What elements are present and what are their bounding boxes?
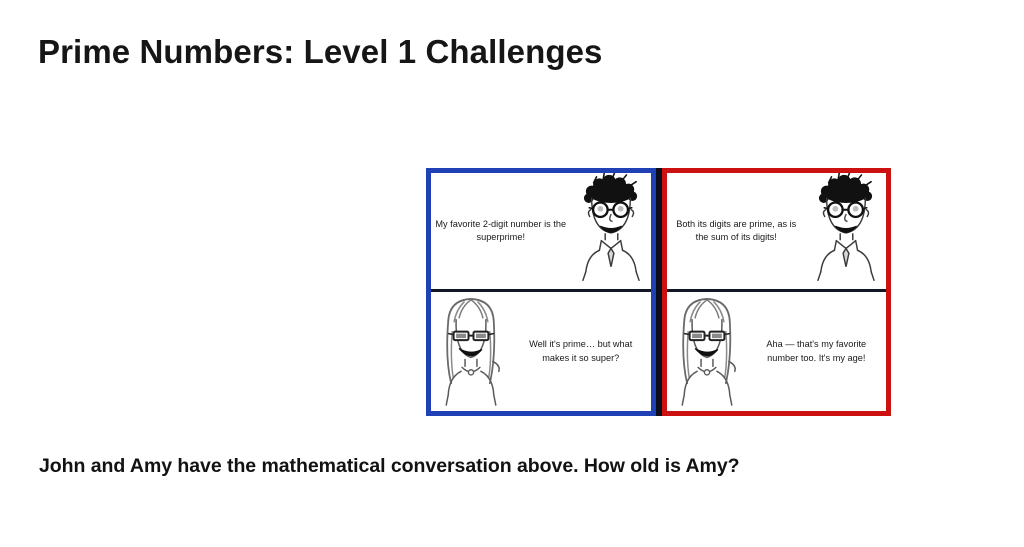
john-figure-icon — [571, 173, 651, 289]
speech-text-4: Aha — that's my favorite number too. It'… — [747, 338, 887, 364]
comic-strip: My favorite 2-digit number is the superp… — [426, 168, 891, 416]
comic-panel-1: My favorite 2-digit number is the superp… — [431, 173, 651, 292]
speech-text-3: Well it's prime… but what makes it so su… — [511, 338, 651, 364]
comic-half-right: Both its digits are prime, as is the sum… — [662, 168, 892, 416]
speech-text-1: My favorite 2-digit number is the superp… — [431, 218, 571, 244]
question-caption: John and Amy have the mathematical conve… — [39, 455, 739, 478]
page-title: Prime Numbers: Level 1 Challenges — [38, 33, 603, 71]
comic-panel-4: Aha — that's my favorite number too. It'… — [667, 292, 887, 411]
comic-panel-2: Both its digits are prime, as is the sum… — [667, 173, 887, 292]
amy-figure-icon — [667, 292, 747, 411]
john-figure-icon — [806, 173, 886, 289]
comic-half-left: My favorite 2-digit number is the superp… — [426, 168, 656, 416]
comic-panel-3: Well it's prime… but what makes it so su… — [431, 292, 651, 411]
speech-text-2: Both its digits are prime, as is the sum… — [667, 218, 807, 244]
amy-figure-icon — [431, 292, 511, 411]
